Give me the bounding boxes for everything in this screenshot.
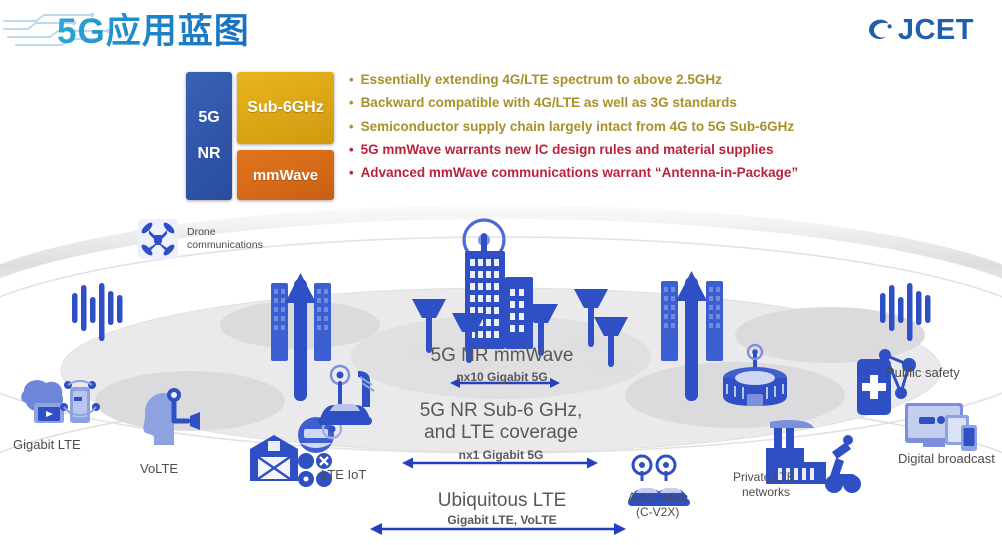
use-case-label-volte: VoLTE [140,461,178,476]
use-case-label-drone-line2: communications [187,239,263,251]
bullet-item: • Advanced mmWave communications warrant… [349,166,949,180]
nr-block-diagram: 5G NR Sub-6GHz mmWave [186,72,334,200]
use-case-label-digital-broadcast: Digital broadcast [898,451,995,466]
bullet-dot-icon: • [349,96,354,110]
bullet-text: Essentially extending 4G/LTE spectrum to… [361,73,722,87]
nr-sub6ghz-block: Sub-6GHz [237,72,334,144]
bullet-text: 5G mmWave warrants new IC design rules a… [361,143,774,157]
use-case-label-public-safety: Public safety [886,365,960,380]
jcet-swirl-icon [865,16,895,45]
mmwave-layer-title: 5G NR mmWave [388,345,616,367]
nr-label-nr: NR [197,145,220,163]
bullet-dot-icon: • [349,166,354,180]
nr-label-5g: 5G [198,109,219,127]
nr-5g-nr-block: 5G NR [186,72,232,200]
use-case-label-gigabit-lte: Gigabit LTE [13,437,81,452]
sub6-layer-title-line1: 5G NR Sub-6 GHz, [381,400,621,422]
bullet-dot-icon: • [349,143,354,157]
ubiquitous-lte-title: Ubiquitous LTE [388,490,616,512]
drone-icon [138,219,178,259]
page-title: 5G应用蓝图 [57,13,250,52]
digital-broadcast-screens-icon [905,403,977,451]
bullet-item: • Semiconductor supply chain largely int… [349,120,949,134]
use-case-label-drone-line1: Drone [187,226,216,238]
bullet-item: • Essentially extending 4G/LTE spectrum … [349,73,949,87]
coverage-infographic: 5G NR mmWave nx10 Gigabit 5G 5G NR Sub-6… [0,205,1002,545]
nr-right-column: Sub-6GHz mmWave [237,72,334,200]
sub6-layer-subtitle: nx1 Gigabit 5G [381,448,621,462]
bullet-list: • Essentially extending 4G/LTE spectrum … [349,73,949,189]
bullet-item: • Backward compatible with 4G/LTE as wel… [349,96,949,110]
use-case-label-automotive-line2: (C-V2X) [636,505,679,519]
bullet-dot-icon: • [349,73,354,87]
use-case-label-automotive-line1: Automotive [628,490,688,504]
sub6-layer-title-line2: and LTE coverage [381,422,621,444]
use-case-label-private-lte-line1: Private LTE [733,470,795,484]
mmwave-layer-subtitle: nx10 Gigabit 5G [388,370,616,384]
ubiquitous-lte-subtitle: Gigabit LTE, VoLTE [388,513,616,527]
bullet-text: Backward compatible with 4G/LTE as well … [361,96,737,110]
nr-mmwave-block: mmWave [237,150,334,200]
bullet-item: • 5G mmWave warrants new IC design rules… [349,143,949,157]
jcet-logo: JCET [865,16,974,45]
use-case-label-lte-iot: LTE IoT [321,467,366,482]
bullet-text: Semiconductor supply chain largely intac… [361,120,795,134]
brand-text: JCET [898,16,974,45]
slide-canvas: 5G应用蓝图 JCET 5G NR Sub-6GHz mmWave • Esse… [0,0,1002,545]
bullet-text: Advanced mmWave communications warrant “… [361,166,799,180]
use-case-label-private-lte-line2: networks [742,485,790,499]
bullet-dot-icon: • [349,120,354,134]
